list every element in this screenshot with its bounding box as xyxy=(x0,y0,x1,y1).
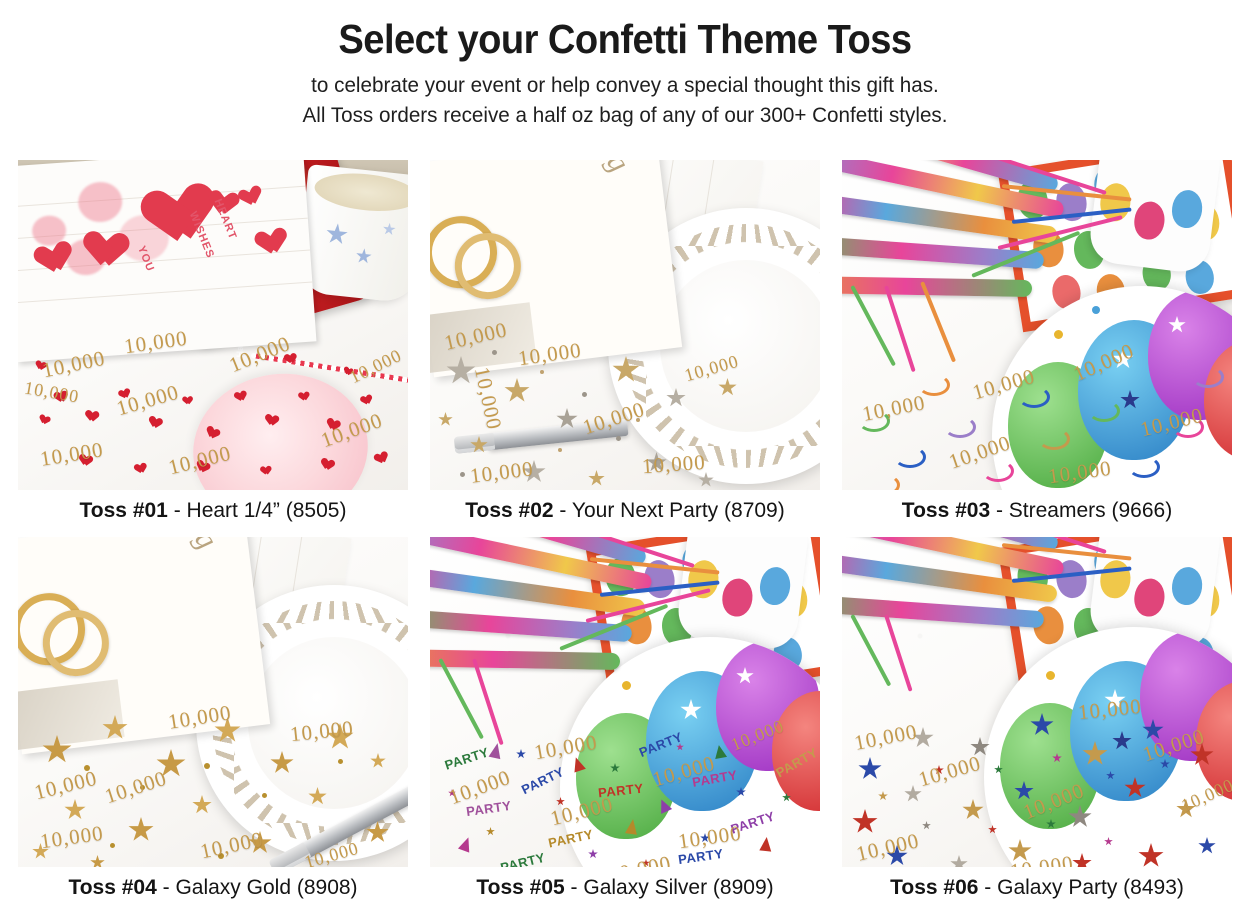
product-number: Toss #05 xyxy=(476,876,564,899)
product-number: Toss #01 xyxy=(80,499,168,522)
product-separator: - xyxy=(565,876,584,899)
product-photo-6[interactable]: 10,000 10,000 10,000 10,000 10,000 10,00… xyxy=(842,537,1232,867)
page-subtitle-line-1: to celebrate your event or help convey a… xyxy=(25,71,1225,100)
product-cell-2[interactable]: HAPPYWeddingDAY xyxy=(430,160,820,532)
product-photo-1[interactable]: Happy Valentines Day xyxy=(18,160,408,490)
page-subtitle-line-2: All Toss orders receive a half oz bag of… xyxy=(25,101,1225,130)
product-number: Toss #06 xyxy=(890,876,978,899)
product-caption-4: Toss #04 - Galaxy Gold (8908) xyxy=(18,867,408,909)
product-separator: - xyxy=(990,499,1009,522)
product-separator: - xyxy=(157,876,176,899)
party-blowers xyxy=(842,160,1142,364)
product-cell-4[interactable]: HAPPYWeddingDAY xyxy=(18,537,408,909)
product-number: Toss #03 xyxy=(902,499,990,522)
product-cell-1[interactable]: Happy Valentines Day xyxy=(18,160,408,532)
product-name: Your Next Party (8709) xyxy=(572,499,785,522)
product-number: Toss #02 xyxy=(465,499,553,522)
product-caption-1: Toss #01 - Heart 1/4” (8505) xyxy=(18,490,408,532)
product-separator: - xyxy=(168,499,187,522)
product-separator: - xyxy=(554,499,572,522)
product-name: Galaxy Silver (8909) xyxy=(583,876,773,899)
product-separator: - xyxy=(978,876,997,899)
party-blowers xyxy=(430,537,730,741)
product-caption-6: Toss #06 - Galaxy Party (8493) xyxy=(842,867,1232,909)
product-name: Streamers (9666) xyxy=(1009,499,1172,522)
catalog-page: Select your Confetti Theme Toss to celeb… xyxy=(0,0,1250,917)
product-grid: Happy Valentines Day xyxy=(18,160,1232,909)
product-number: Toss #04 xyxy=(68,876,156,899)
product-photo-5[interactable]: PARTY PARTY PARTY PARTY PARTY PARTY PART… xyxy=(430,537,820,867)
product-cell-3[interactable]: 10,000 10,000 10,000 10,000 10,000 10,00… xyxy=(842,160,1232,532)
product-cell-6[interactable]: 10,000 10,000 10,000 10,000 10,000 10,00… xyxy=(842,537,1232,909)
product-name: Heart 1/4” (8505) xyxy=(187,499,347,522)
paper-cup xyxy=(296,164,408,304)
product-name: Galaxy Party (8493) xyxy=(997,876,1184,899)
product-photo-4[interactable]: HAPPYWeddingDAY xyxy=(18,537,408,867)
product-photo-3[interactable]: 10,000 10,000 10,000 10,000 10,000 10,00… xyxy=(842,160,1232,490)
product-caption-2: Toss #02 - Your Next Party (8709) xyxy=(430,490,820,532)
product-name: Galaxy Gold (8908) xyxy=(175,876,357,899)
product-caption-3: Toss #03 - Streamers (9666) xyxy=(842,490,1232,532)
product-photo-2[interactable]: HAPPYWeddingDAY xyxy=(430,160,820,490)
page-header: Select your Confetti Theme Toss to celeb… xyxy=(0,0,1250,130)
product-cell-5[interactable]: PARTY PARTY PARTY PARTY PARTY PARTY PART… xyxy=(430,537,820,909)
product-caption-5: Toss #05 - Galaxy Silver (8909) xyxy=(430,867,820,909)
wedding-card-text: HAPPYWeddingDAY xyxy=(123,537,234,563)
page-title: Select your Confetti Theme Toss xyxy=(44,18,1207,61)
confetti-number: 10,000 xyxy=(641,450,706,479)
wedding-card-text: HAPPYWeddingDAY xyxy=(535,160,646,186)
